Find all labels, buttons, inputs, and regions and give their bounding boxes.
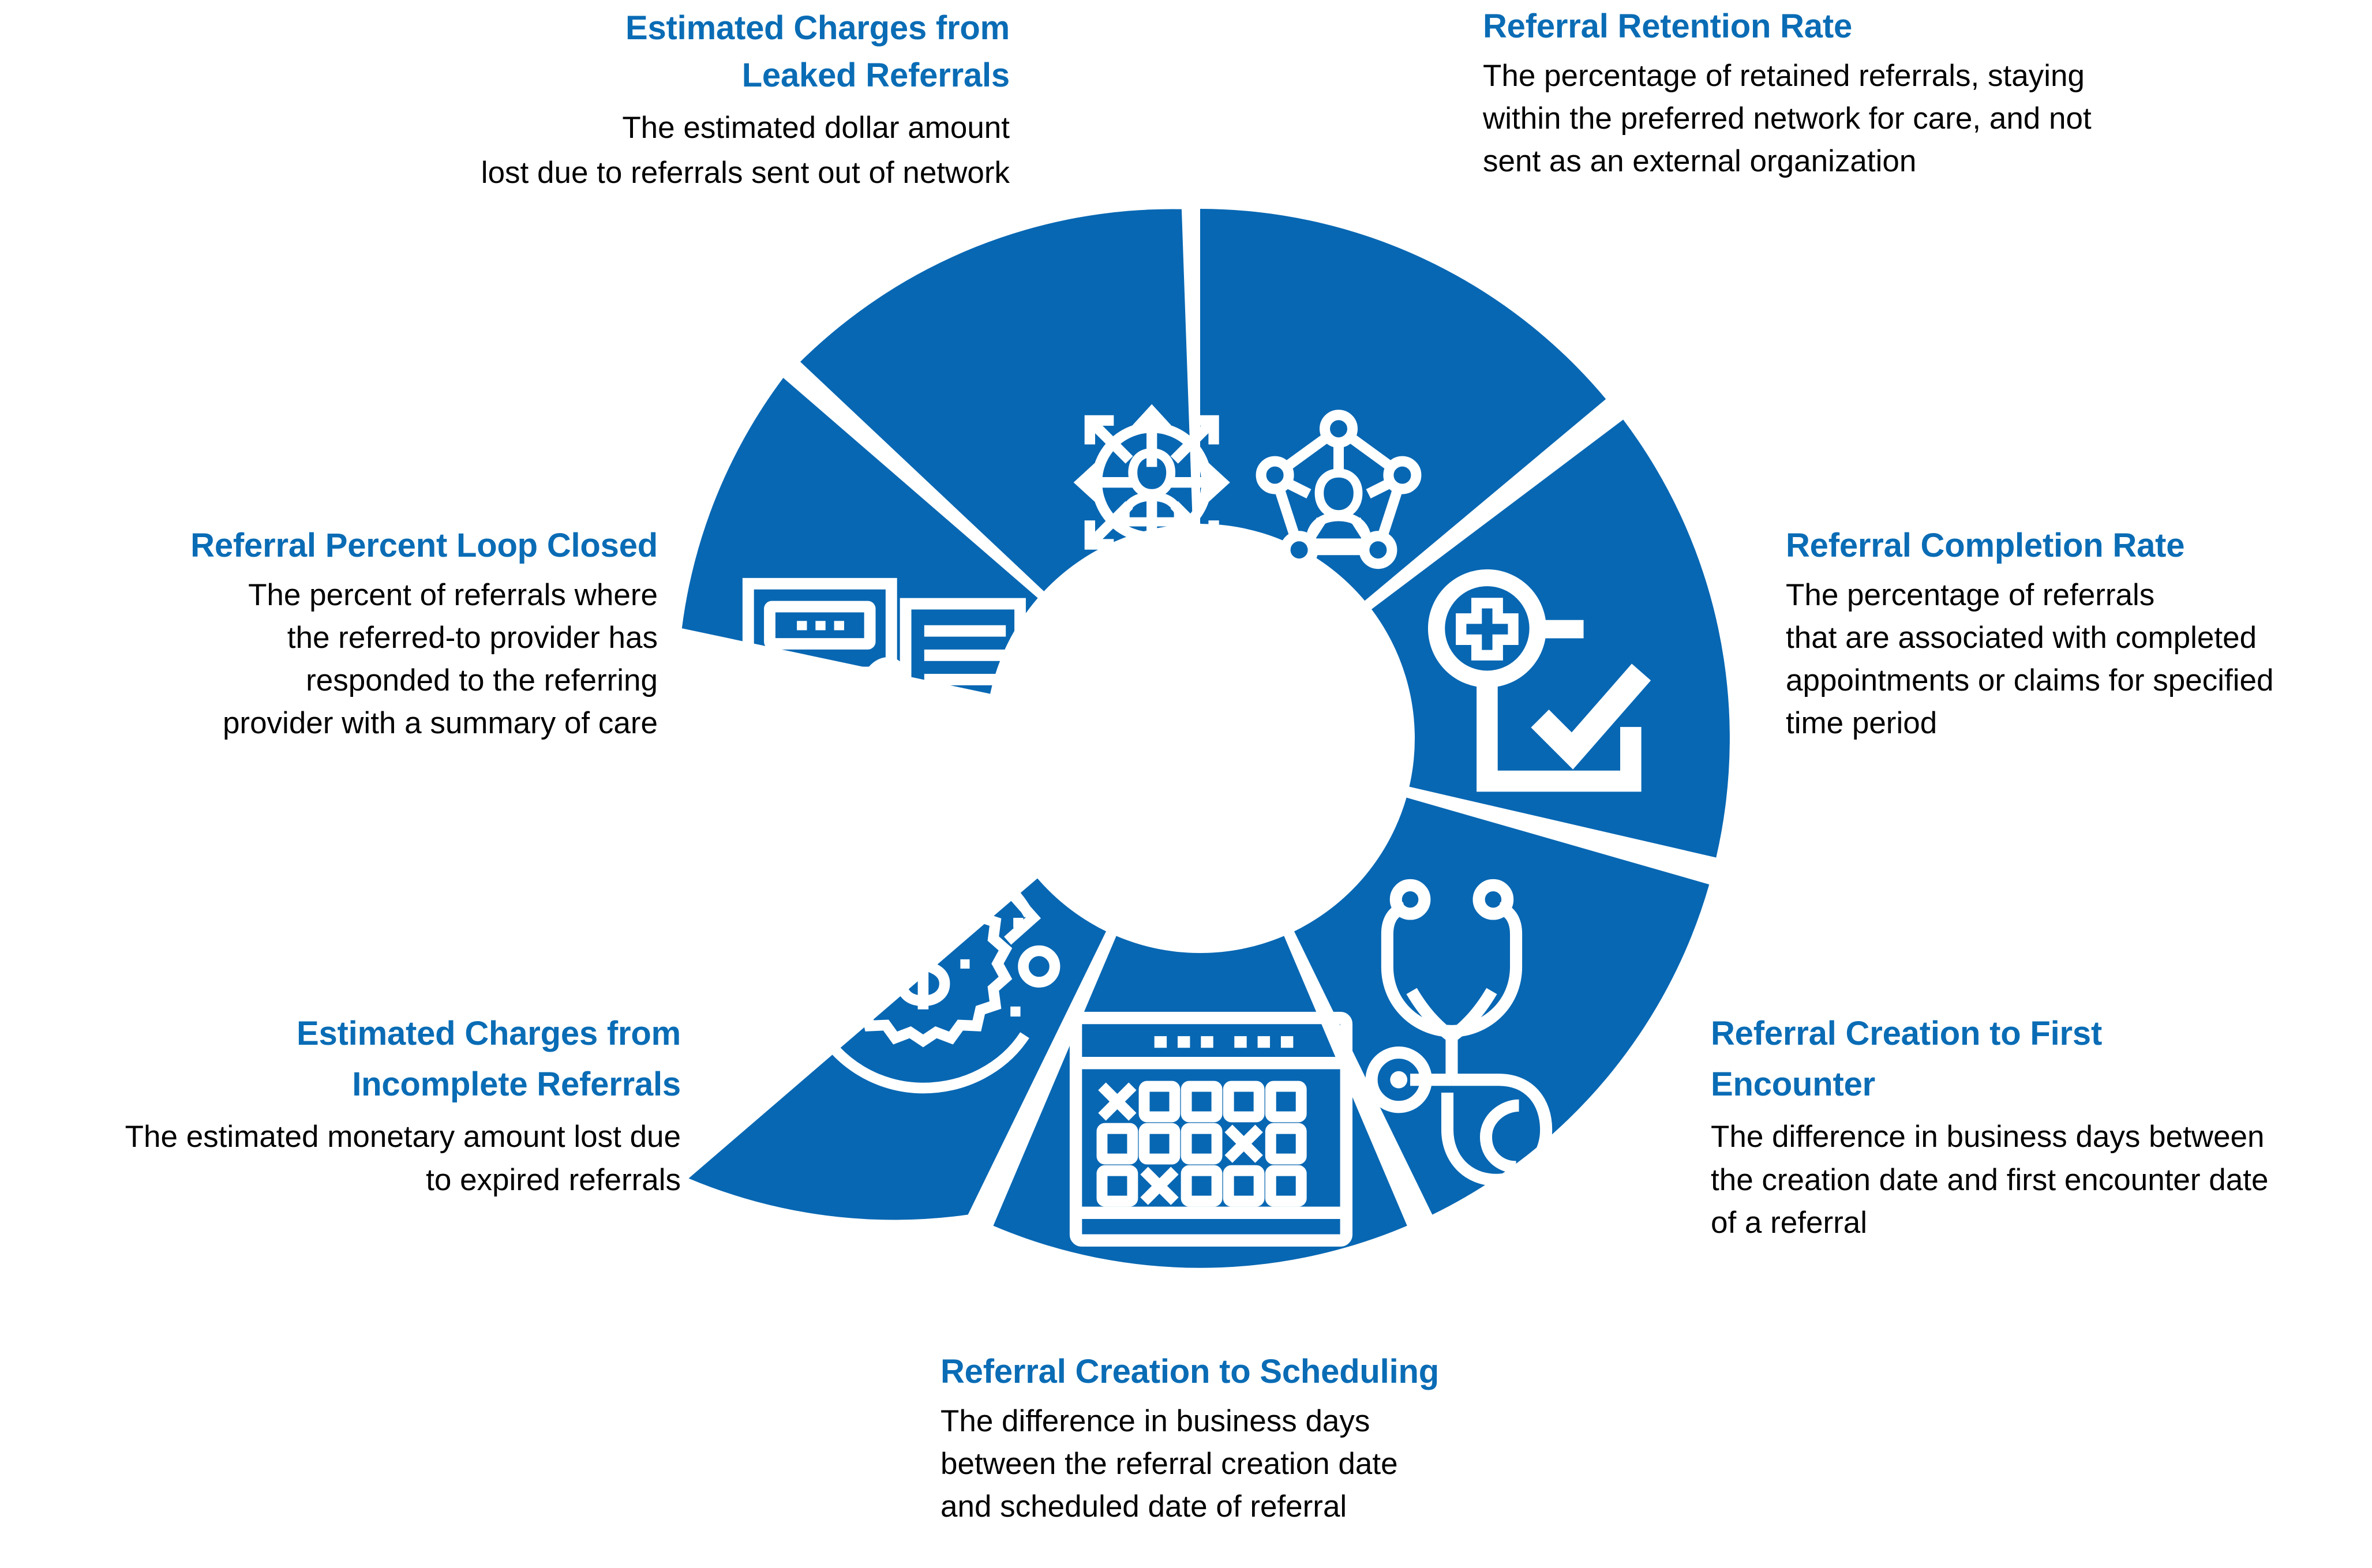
callout-referral-percent-loop-closed: Referral Percent Loop Closed The percent…	[58, 524, 658, 745]
callout-description: The percentage of retained referrals, st…	[1483, 55, 2129, 183]
callout-title: Referral Completion Rate	[1786, 524, 2363, 568]
callout-title: Estimated Charges from Incomplete Referr…	[0, 1008, 681, 1110]
callout-title: Referral Retention Rate	[1483, 5, 2129, 49]
callout-referral-completion-rate: Referral Completion Rate The percentage …	[1786, 524, 2363, 745]
callout-description: The difference in business days between …	[1711, 1116, 2369, 1244]
referral-metrics-donut	[670, 209, 1730, 1268]
callout-description: The percent of referrals where the refer…	[58, 574, 658, 745]
callout-description: The estimated dollar amount lost due to …	[323, 106, 1010, 196]
callout-estimated-charges-from-incomplete-referrals: Estimated Charges from Incomplete Referr…	[0, 1008, 681, 1202]
callout-referral-retention-rate: Referral Retention Rate The percentage o…	[1483, 5, 2129, 183]
callout-description: The difference in business days between …	[940, 1400, 1552, 1529]
callout-description: The percentage of referrals that are ass…	[1786, 574, 2363, 745]
callout-title: Referral Percent Loop Closed	[58, 524, 658, 568]
infographic-canvas: Estimated Charges from Leaked Referrals …	[0, 0, 2372, 1568]
callout-title: Referral Creation to Scheduling	[940, 1350, 1552, 1394]
callout-referral-creation-to-first-encounter: Referral Creation to First Encounter The…	[1711, 1008, 2369, 1244]
callout-description: The estimated monetary amount lost due t…	[0, 1116, 681, 1201]
callout-title: Estimated Charges from Leaked Referrals	[323, 5, 1010, 100]
callout-referral-creation-to-scheduling: Referral Creation to Scheduling The diff…	[940, 1350, 1552, 1528]
callout-estimated-charges-from-leaked-referrals: Estimated Charges from Leaked Referrals …	[323, 5, 1010, 196]
callout-title: Referral Creation to First Encounter	[1711, 1008, 2369, 1110]
